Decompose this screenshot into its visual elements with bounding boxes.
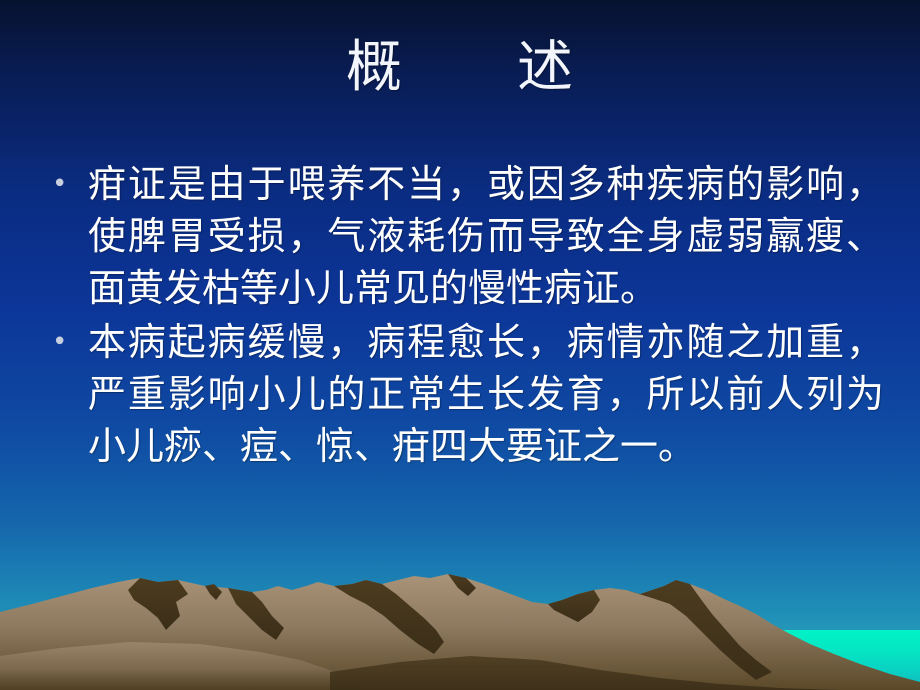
slide-body: • 疳证是由于喂养不当，或因多种疾病的影响，使脾胃受损，气液耗伤而导致全身虚弱羸… <box>42 158 884 474</box>
bullet-marker-icon: • <box>42 158 88 210</box>
bullet-marker-icon: • <box>42 316 88 368</box>
bullet-text: 本病起病缓慢，病程愈长，病情亦随之加重，严重影响小儿的正常生长发育，所以前人列为… <box>88 316 884 472</box>
mountain-range-illustration <box>0 560 920 690</box>
presentation-slide: 概 述 • 疳证是由于喂养不当，或因多种疾病的影响，使脾胃受损，气液耗伤而导致全… <box>0 0 920 690</box>
bullet-item: • 疳证是由于喂养不当，或因多种疾病的影响，使脾胃受损，气液耗伤而导致全身虚弱羸… <box>42 158 884 314</box>
bullet-item: • 本病起病缓慢，病程愈长，病情亦随之加重，严重影响小儿的正常生长发育，所以前人… <box>42 316 884 472</box>
slide-title: 概 述 <box>0 40 920 96</box>
bullet-text: 疳证是由于喂养不当，或因多种疾病的影响，使脾胃受损，气液耗伤而导致全身虚弱羸瘦、… <box>88 158 884 314</box>
